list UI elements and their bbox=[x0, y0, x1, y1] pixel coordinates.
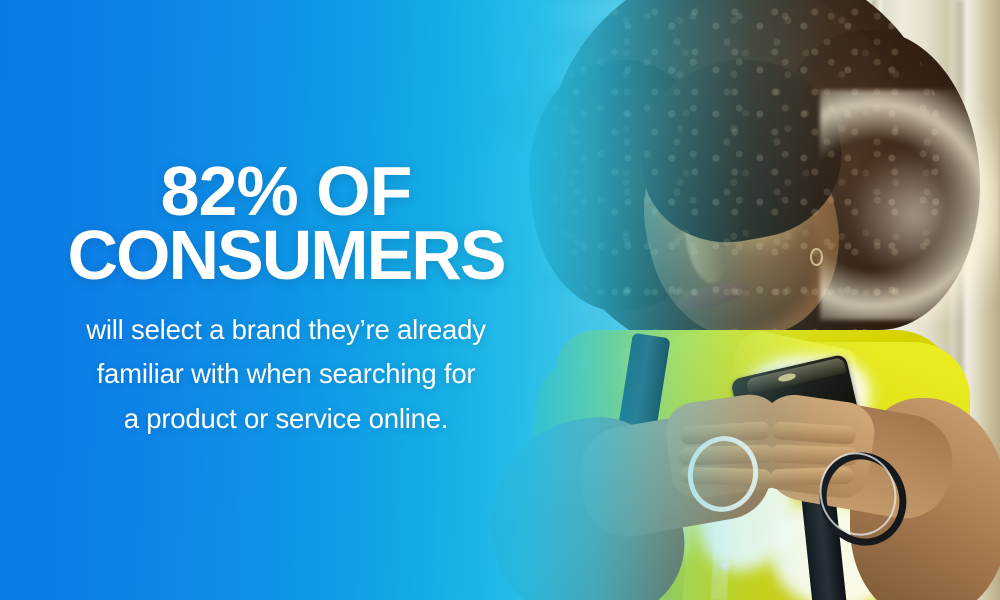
subcopy: will select a brand they’re already fami… bbox=[86, 308, 486, 442]
copy-block: 82% OF CONSUMERS will select a brand the… bbox=[0, 0, 572, 600]
subcopy-line-3: a product or service online. bbox=[86, 397, 486, 442]
headline-line-2: CONSUMERS bbox=[67, 223, 504, 287]
subcopy-line-1: will select a brand they’re already bbox=[86, 308, 486, 353]
promo-banner: 82% OF CONSUMERS will select a brand the… bbox=[0, 0, 1000, 600]
subcopy-line-2: familiar with when searching for bbox=[86, 352, 486, 397]
headline-line-1: 82% OF bbox=[67, 159, 504, 223]
headline: 82% OF CONSUMERS bbox=[67, 159, 504, 288]
